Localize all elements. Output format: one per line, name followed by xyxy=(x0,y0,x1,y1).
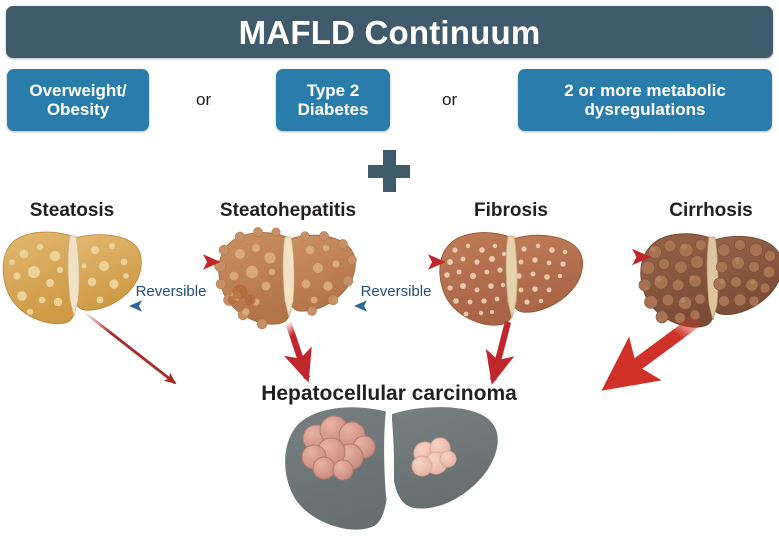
stage-label-fibrosis: Fibrosis xyxy=(474,200,548,222)
stage-label-steatohepatitis: Steatohepatitis xyxy=(220,200,356,222)
connector-or-1: or xyxy=(196,90,211,110)
plus-icon-vertical-bar xyxy=(383,150,396,192)
criteria-line-1: 2 or more metabolic xyxy=(564,81,726,100)
page-title: MAFLD Continuum xyxy=(239,16,541,49)
criteria-box-metabolic-dysregulations: 2 or more metabolic dysregulations xyxy=(518,69,772,131)
arrow-cirrhosis-to-hcc xyxy=(612,318,700,383)
liver-illustration-hepatocellular-carcinoma xyxy=(285,407,498,529)
reversible-label-1: Reversible xyxy=(136,283,207,300)
reversible-label-2: Reversible xyxy=(361,283,432,300)
criteria-line-1: Overweight/ xyxy=(29,81,126,100)
criteria-box-metabolic-dysregulations-text: 2 or more metabolic dysregulations xyxy=(564,81,726,119)
figure-title-bar: MAFLD Continuum xyxy=(6,6,773,58)
connector-or-2: or xyxy=(442,90,457,110)
outcome-label-hepatocellular-carcinoma: Hepatocellular carcinoma xyxy=(261,382,517,406)
criteria-line-1: Type 2 xyxy=(307,81,360,100)
liver-illustration-cirrhosis xyxy=(639,234,779,328)
criteria-box-overweight-obesity: Overweight/ Obesity xyxy=(7,69,149,131)
criteria-line-2: dysregulations xyxy=(585,100,706,119)
criteria-box-overweight-obesity-text: Overweight/ Obesity xyxy=(29,81,126,119)
criteria-line-2: Obesity xyxy=(47,100,109,119)
stage-label-steatosis: Steatosis xyxy=(30,200,114,222)
mafld-continuum-figure: MAFLD Continuum Overweight/ Obesity or T… xyxy=(0,0,779,539)
arrow-steatohepatitis-to-hcc xyxy=(288,322,307,378)
criteria-line-2: Diabetes xyxy=(298,100,369,119)
plus-icon xyxy=(368,150,410,192)
arrow-fibrosis-to-hcc xyxy=(493,322,508,380)
stage-label-cirrhosis: Cirrhosis xyxy=(669,200,752,222)
criteria-box-type-2-diabetes-text: Type 2 Diabetes xyxy=(298,81,369,119)
criteria-box-type-2-diabetes: Type 2 Diabetes xyxy=(276,69,390,131)
liver-illustration-steatohepatitis xyxy=(215,227,357,329)
liver-illustration-fibrosis xyxy=(440,233,583,326)
liver-illustration-steatosis xyxy=(3,232,141,324)
arrow-steatosis-to-hcc xyxy=(84,312,175,383)
